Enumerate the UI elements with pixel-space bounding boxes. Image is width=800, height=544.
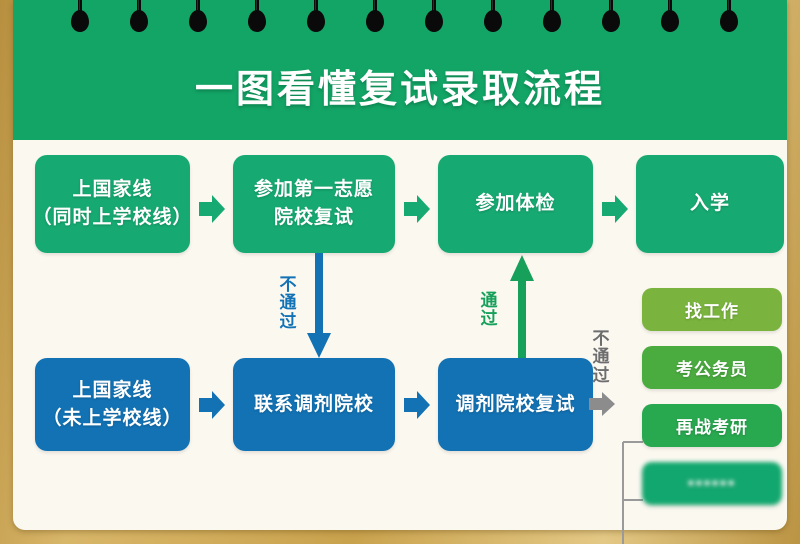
label-pass-up: 通 过 bbox=[479, 292, 499, 329]
poster-root: 一图看懂复试录取流程 上国家线 （同时上学校线） 参加第一志愿 院校复试 参加体… bbox=[0, 0, 800, 544]
node-line-1: 参加体检 bbox=[475, 190, 555, 218]
label-char-1: 不 bbox=[278, 276, 298, 294]
binding-pin-bead bbox=[720, 10, 738, 32]
binding-pin-bead bbox=[661, 10, 679, 32]
flow-node-contact-transfer-school[interactable]: 联系调剂院校 bbox=[233, 358, 395, 451]
label-char-2: 通 bbox=[591, 348, 611, 366]
flow-node-national-line-pass[interactable]: 上国家线 （同时上学校线） bbox=[35, 155, 190, 253]
label-char-1: 通 bbox=[479, 292, 499, 310]
node-line-2: 院校复试 bbox=[274, 204, 354, 232]
arrow-right-blue-1 bbox=[199, 390, 225, 420]
flow-diagram: 上国家线 （同时上学校线） 参加第一志愿 院校复试 参加体检 入学 bbox=[13, 140, 787, 530]
option-label: 考公务员 bbox=[676, 355, 748, 380]
label-char-1: 不 bbox=[591, 330, 611, 348]
option-label: 再战考研 bbox=[676, 413, 748, 438]
node-line-2: （未上学校线） bbox=[42, 405, 182, 433]
node-line-1: 上国家线 bbox=[72, 377, 152, 405]
binding-pin-bead bbox=[425, 10, 443, 32]
node-line-1: 调剂院校复试 bbox=[455, 391, 575, 419]
binding-pin-bead bbox=[602, 10, 620, 32]
branch-bracket bbox=[621, 436, 643, 544]
label-char-2: 过 bbox=[479, 310, 499, 328]
label-fail-right: 不 通 过 bbox=[591, 330, 611, 385]
binding-pin-bead bbox=[366, 10, 384, 32]
flow-node-medical-exam[interactable]: 参加体检 bbox=[438, 155, 593, 253]
arrow-right-green-1 bbox=[199, 194, 225, 224]
label-char-3: 过 bbox=[278, 313, 298, 331]
label-char-3: 过 bbox=[591, 367, 611, 385]
node-line-1: 入学 bbox=[690, 190, 730, 218]
binding-pin-bead bbox=[130, 10, 148, 32]
label-fail-down: 不 通 过 bbox=[278, 276, 298, 331]
binding-pin-bead bbox=[71, 10, 89, 32]
node-line-1: 上国家线 bbox=[72, 176, 152, 204]
option-label: ■■■■■■ bbox=[688, 478, 736, 489]
flow-node-enrollment[interactable]: 入学 bbox=[636, 155, 784, 253]
flow-node-transfer-school-reexam[interactable]: 调剂院校复试 bbox=[438, 358, 593, 451]
node-line-1: 联系调剂院校 bbox=[254, 391, 374, 419]
arrow-up-pass bbox=[509, 253, 535, 363]
option-label: 找工作 bbox=[685, 297, 739, 322]
flow-node-first-choice-reexam[interactable]: 参加第一志愿 院校复试 bbox=[233, 155, 395, 253]
binding-pin-bead bbox=[307, 10, 325, 32]
option-node-obscured[interactable]: ■■■■■■ bbox=[642, 462, 782, 505]
binding-pin-bead bbox=[484, 10, 502, 32]
page-title: 一图看懂复试录取流程 bbox=[13, 58, 787, 113]
arrow-right-green-2 bbox=[404, 194, 430, 224]
flow-node-national-line-only[interactable]: 上国家线 （未上学校线） bbox=[35, 358, 190, 451]
node-line-2: （同时上学校线） bbox=[33, 204, 193, 232]
option-node-retry-postgrad-exam[interactable]: 再战考研 bbox=[642, 404, 782, 447]
spiral-binding bbox=[13, 0, 787, 42]
binding-pin-bead bbox=[248, 10, 266, 32]
option-node-find-job[interactable]: 找工作 bbox=[642, 288, 782, 331]
arrow-right-green-3 bbox=[602, 194, 628, 224]
option-node-civil-service-exam[interactable]: 考公务员 bbox=[642, 346, 782, 389]
arrow-right-gray-fail bbox=[589, 391, 615, 417]
arrow-down-fail bbox=[306, 253, 332, 359]
node-line-1: 参加第一志愿 bbox=[254, 176, 374, 204]
binding-pin-bead bbox=[189, 10, 207, 32]
label-char-2: 通 bbox=[278, 294, 298, 312]
arrow-right-blue-2 bbox=[404, 390, 430, 420]
binding-pin-bead bbox=[543, 10, 561, 32]
